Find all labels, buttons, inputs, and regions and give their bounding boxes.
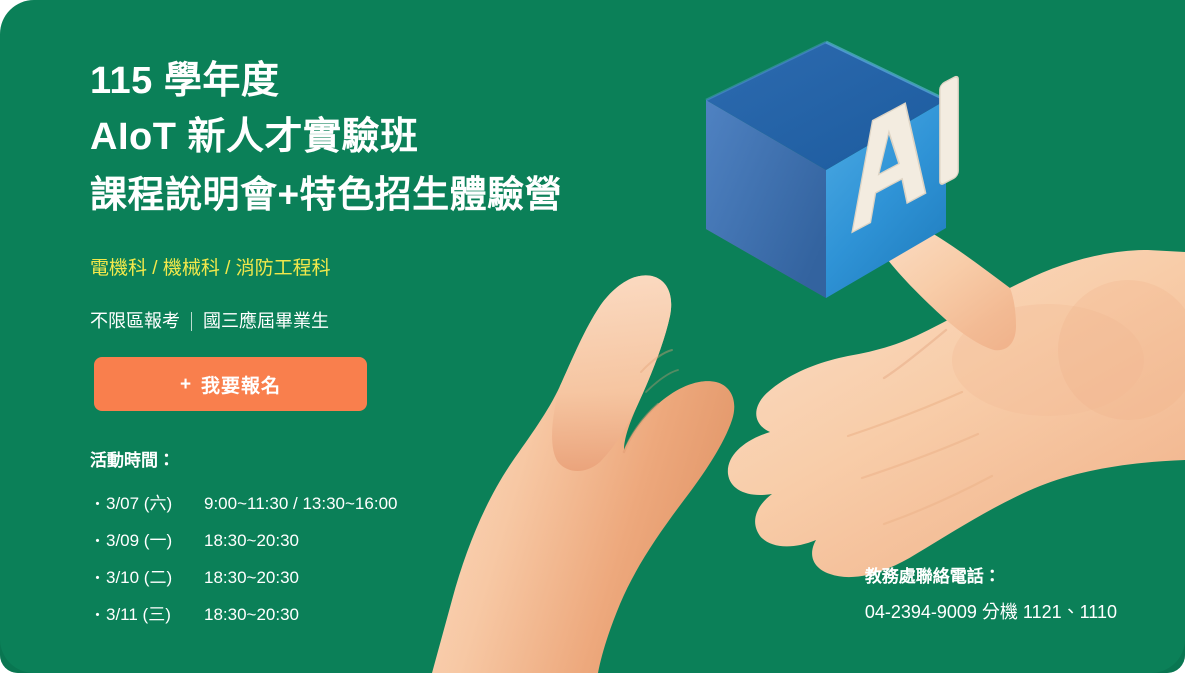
schedule-time: 18:30~20:30 bbox=[204, 560, 299, 596]
schedule-title: 活動時間： bbox=[90, 449, 397, 473]
eligibility-note: 不限區報考 國三應屆畢業生 bbox=[90, 308, 329, 334]
list-item: ・ 3/09 (一) 18:30~20:30 bbox=[90, 523, 397, 560]
promo-banner: 115 學年度 AIoT 新人才實驗班 課程說明會+特色招生體驗營 電機科 / … bbox=[0, 0, 1185, 673]
schedule-bullet: ・ bbox=[90, 524, 106, 560]
contact-phone[interactable]: 04-2394-9009 分機 1121、1110 bbox=[865, 599, 1117, 625]
schedule-time: 18:30~20:30 bbox=[204, 523, 299, 559]
departments-list: 電機科 / 機械科 / 消防工程科 bbox=[90, 256, 331, 282]
schedule-bullet: ・ bbox=[90, 487, 106, 523]
headline-line-3: 課程說明會+特色招生體驗營 bbox=[90, 166, 562, 224]
schedule-block: 活動時間： ・ 3/07 (六) 9:00~11:30 / 13:30~16:0… bbox=[90, 449, 397, 634]
schedule-date: 3/11 (三) bbox=[106, 597, 204, 633]
eligibility-separator bbox=[191, 312, 192, 331]
schedule-bullet: ・ bbox=[90, 598, 106, 634]
headline-line-2: AIoT 新人才實驗班 bbox=[90, 108, 562, 166]
banner-content: 115 學年度 AIoT 新人才實驗班 課程說明會+特色招生體驗營 電機科 / … bbox=[0, 0, 1185, 673]
schedule-time: 9:00~11:30 / 13:30~16:00 bbox=[204, 486, 397, 522]
contact-label: 教務處聯絡電話： bbox=[865, 564, 1117, 590]
schedule-list: ・ 3/07 (六) 9:00~11:30 / 13:30~16:00 ・ 3/… bbox=[90, 486, 397, 634]
list-item: ・ 3/10 (二) 18:30~20:30 bbox=[90, 560, 397, 597]
schedule-time: 18:30~20:30 bbox=[204, 597, 299, 633]
schedule-date: 3/10 (二) bbox=[106, 560, 204, 596]
schedule-date: 3/07 (六) bbox=[106, 486, 204, 522]
contact-block: 教務處聯絡電話： 04-2394-9009 分機 1121、1110 bbox=[865, 564, 1117, 625]
eligibility-item-1: 不限區報考 bbox=[90, 308, 180, 334]
list-item: ・ 3/11 (三) 18:30~20:30 bbox=[90, 597, 397, 634]
schedule-bullet: ・ bbox=[90, 561, 106, 597]
schedule-date: 3/09 (一) bbox=[106, 523, 204, 559]
register-button-label: 我要報名 bbox=[201, 371, 281, 398]
register-button[interactable]: + 我要報名 bbox=[94, 357, 367, 411]
eligibility-item-2: 國三應屆畢業生 bbox=[203, 308, 329, 334]
plus-icon: + bbox=[180, 375, 192, 394]
list-item: ・ 3/07 (六) 9:00~11:30 / 13:30~16:00 bbox=[90, 486, 397, 523]
page-title: 115 學年度 AIoT 新人才實驗班 課程說明會+特色招生體驗營 bbox=[90, 54, 562, 224]
headline-line-1: 115 學年度 bbox=[90, 54, 562, 108]
